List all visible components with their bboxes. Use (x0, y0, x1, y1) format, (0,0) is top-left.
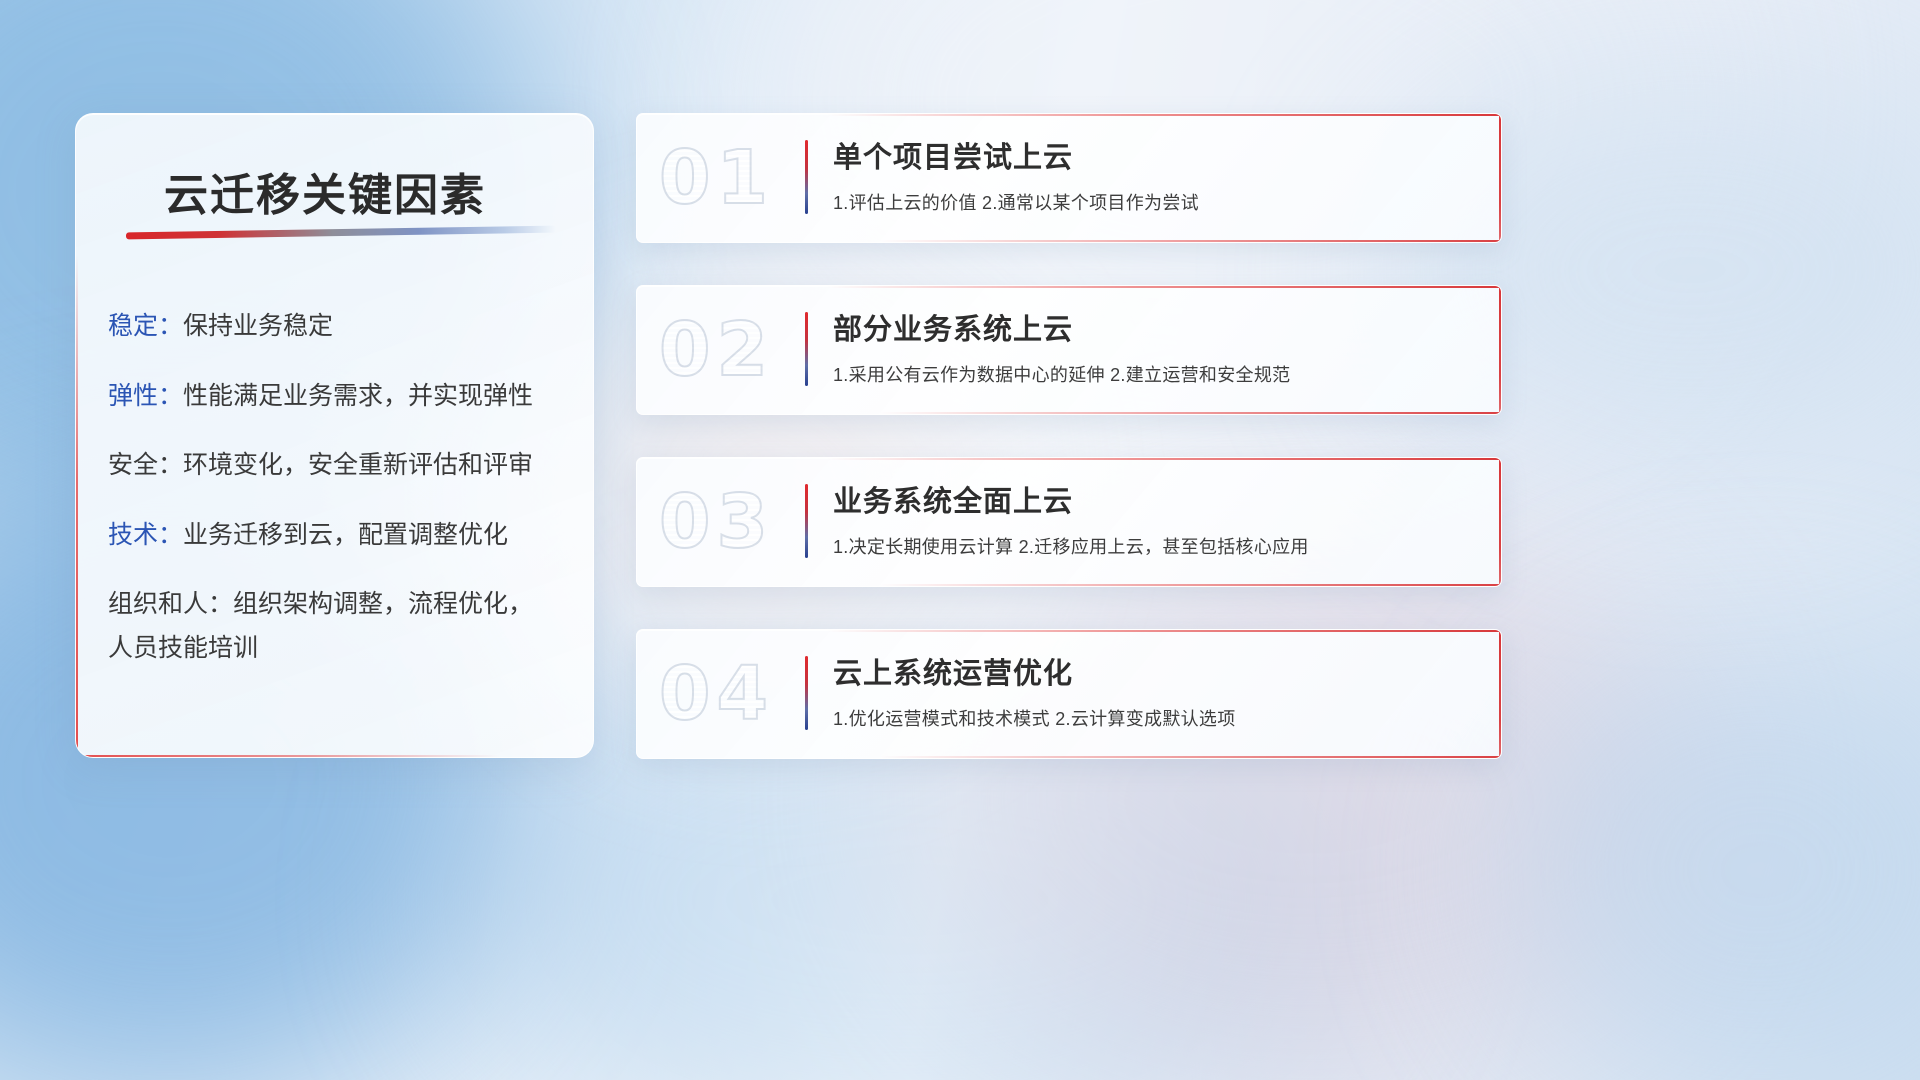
list-item: 稳定：保持业务稳定 (108, 310, 571, 344)
list-item-continuation: 人员技能培训 (108, 632, 571, 666)
stage-text-block: 单个项目尝试上云 1.评估上云的价值 2.通常以某个项目作为尝试 (833, 134, 1483, 215)
stage-card-list: 01 单个项目尝试上云 1.评估上云的价值 2.通常以某个项目作为尝试 02 部… (636, 113, 1502, 801)
card-edge-right (1499, 114, 1501, 242)
stage-subtitle: 1.决定长期使用云计算 2.迁移应用上云，甚至包括核心应用 (833, 533, 1483, 559)
card-edge-bottom (879, 240, 1501, 242)
card-edge-top (827, 286, 1501, 288)
stage-number-watermark: 02 (659, 307, 774, 393)
card-edge-bottom (879, 412, 1501, 414)
stage-card-01[interactable]: 01 单个项目尝试上云 1.评估上云的价值 2.通常以某个项目作为尝试 (636, 113, 1502, 243)
stage-text-block: 云上系统运营优化 1.优化运营模式和技术模式 2.云计算变成默认选项 (833, 650, 1483, 731)
list-item: 弹性：性能满足业务需求，并实现弹性 (108, 380, 571, 414)
list-item: 技术：业务迁移到云，配置调整优化 (108, 519, 571, 553)
stage-card-03[interactable]: 03 业务系统全面上云 1.决定长期使用云计算 2.迁移应用上云，甚至包括核心应… (636, 457, 1502, 587)
stage-subtitle: 1.优化运营模式和技术模式 2.云计算变成默认选项 (833, 705, 1483, 731)
stage-heading: 部分业务系统上云 (833, 306, 1483, 348)
factor-text: 组织架构调整，流程优化， (233, 590, 533, 618)
factor-label: 弹性： (108, 382, 183, 410)
stage-heading: 业务系统全面上云 (833, 478, 1483, 520)
factor-text: 性能满足业务需求，并实现弹性 (183, 382, 533, 410)
stage-subtitle: 1.评估上云的价值 2.通常以某个项目作为尝试 (833, 189, 1483, 215)
stage-divider-bar (805, 484, 808, 558)
list-item: 安全：环境变化，安全重新评估和评审 (108, 449, 571, 483)
card-edge-right (1499, 630, 1501, 758)
stage-number-watermark: 01 (659, 135, 774, 221)
factor-label: 技术： (108, 521, 183, 549)
key-factors-list: 稳定：保持业务稳定 弹性：性能满足业务需求，并实现弹性 安全：环境变化，安全重新… (108, 310, 571, 665)
card-edge-right (1499, 458, 1501, 586)
factor-text: 保持业务稳定 (183, 312, 333, 340)
stage-number-watermark: 03 (659, 479, 774, 565)
stage-divider-bar (805, 140, 808, 214)
card-edge-top (827, 630, 1501, 632)
factor-label: 安全： (108, 451, 183, 479)
card-edge-top (827, 458, 1501, 460)
card-edge-bottom (879, 584, 1501, 586)
stage-card-02[interactable]: 02 部分业务系统上云 1.采用公有云作为数据中心的延伸 2.建立运营和安全规范 (636, 285, 1502, 415)
key-factors-panel: 云迁移关键因素 稳定：保持业务稳定 弹性：性能满足业务需求，并实现弹性 安全：环… (75, 113, 594, 758)
stage-card-04[interactable]: 04 云上系统运营优化 1.优化运营模式和技术模式 2.云计算变成默认选项 (636, 629, 1502, 759)
factor-text: 业务迁移到云，配置调整优化 (183, 521, 508, 549)
stage-text-block: 部分业务系统上云 1.采用公有云作为数据中心的延伸 2.建立运营和安全规范 (833, 306, 1483, 387)
list-item: 组织和人：组织架构调整，流程优化， (108, 588, 571, 622)
page-title: 云迁移关键因素 (164, 159, 486, 223)
stage-number-watermark: 04 (659, 651, 774, 737)
factor-text: 环境变化，安全重新评估和评审 (183, 451, 533, 479)
factor-label: 稳定： (108, 312, 183, 340)
title-underline-gradient (126, 226, 556, 240)
card-edge-bottom (879, 756, 1501, 758)
stage-text-block: 业务系统全面上云 1.决定长期使用云计算 2.迁移应用上云，甚至包括核心应用 (833, 478, 1483, 559)
card-edge-right (1499, 286, 1501, 414)
card-edge-top (827, 114, 1501, 116)
stage-divider-bar (805, 312, 808, 386)
factor-label: 组织和人： (108, 590, 233, 618)
stage-divider-bar (805, 656, 808, 730)
stage-subtitle: 1.采用公有云作为数据中心的延伸 2.建立运营和安全规范 (833, 361, 1483, 387)
stage-heading: 单个项目尝试上云 (833, 134, 1483, 176)
stage-heading: 云上系统运营优化 (833, 650, 1483, 692)
